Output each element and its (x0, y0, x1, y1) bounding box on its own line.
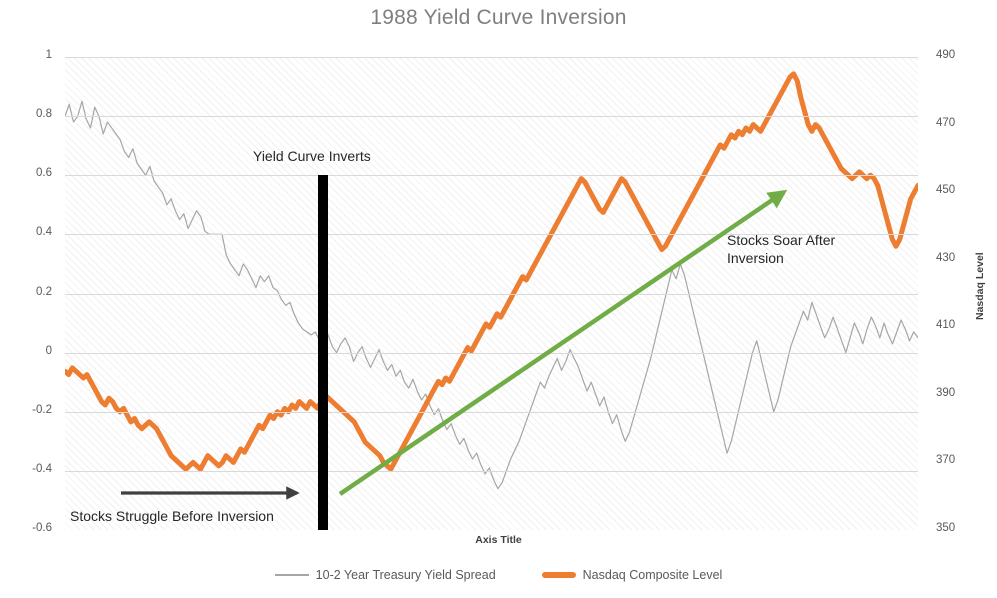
y-axis-right-tick-label: 430 (936, 252, 970, 264)
y-axis-right-tick-label: 390 (936, 387, 970, 399)
y-axis-title-right: Nasdaq Level (974, 252, 986, 320)
y-axis-left-tick-label: 0.6 (18, 167, 52, 179)
legend-item-spread[interactable]: 10-2 Year Treasury Yield Spread (275, 568, 496, 582)
y-axis-right-tick-label: 370 (936, 454, 970, 466)
legend-label-spread: 10-2 Year Treasury Yield Spread (316, 568, 496, 582)
y-axis-right-tick-label: 450 (936, 184, 970, 196)
legend-item-nasdaq[interactable]: Nasdaq Composite Level (542, 568, 723, 582)
gridline (65, 412, 918, 413)
annotation-stocks-struggle: Stocks Struggle Before Inversion (70, 508, 274, 526)
series-line-spread (65, 101, 918, 488)
legend-line-icon-nasdaq (542, 572, 576, 578)
gridline (65, 116, 918, 117)
legend: 10-2 Year Treasury Yield Spread Nasdaq C… (0, 568, 997, 582)
chart-container: 1988 Yield Curve Inversion 10-2 Spread N… (0, 0, 997, 598)
annotation-yield-curve-inverts: Yield Curve Inverts (253, 148, 371, 166)
legend-line-icon-spread (275, 574, 309, 576)
y-axis-right-tick-label: 410 (936, 319, 970, 331)
annotation-stocks-soar: Stocks Soar After Inversion (727, 232, 835, 267)
y-axis-left-tick-label: 0.8 (18, 108, 52, 120)
gridline (65, 175, 918, 176)
y-axis-right-tick-label: 350 (936, 522, 970, 534)
gridline (65, 353, 918, 354)
x-axis-title: Axis Title (0, 534, 997, 546)
y-axis-left-tick-label: 1 (18, 49, 52, 61)
series-line-nasdaq (65, 74, 918, 469)
gridline (65, 471, 918, 472)
y-axis-left-tick-label: -0.2 (18, 404, 52, 416)
legend-label-nasdaq: Nasdaq Composite Level (583, 568, 723, 582)
chart-title: 1988 Yield Curve Inversion (0, 6, 997, 30)
gridline (65, 294, 918, 295)
plot-area (65, 57, 918, 530)
y-axis-right-tick-label: 490 (936, 49, 970, 61)
y-axis-left-tick-label: 0.4 (18, 226, 52, 238)
y-axis-left-tick-label: -0.4 (18, 463, 52, 475)
y-axis-left-tick-label: 0.2 (18, 286, 52, 298)
y-axis-left-tick-label: -0.6 (18, 522, 52, 534)
y-axis-right-tick-label: 470 (936, 117, 970, 129)
y-axis-left-tick-label: 0 (18, 345, 52, 357)
gridline (65, 57, 918, 58)
